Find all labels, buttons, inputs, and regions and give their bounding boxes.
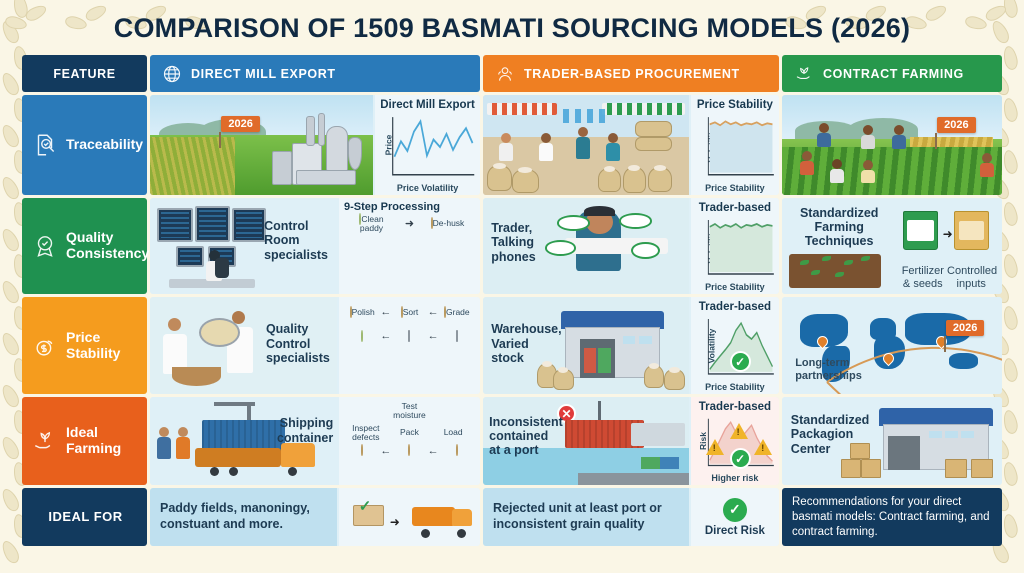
header-tbp-label: TRADER-BASED PROCUREMENT [524, 67, 740, 81]
fertilizer-bag-icon [903, 211, 938, 249]
quality-badge-icon [32, 233, 58, 259]
chart-trader-based-r2: Trader-based Volatility Price Stability [691, 198, 779, 294]
flow-step: Load [432, 428, 475, 437]
caption: Inconsistent contained at a port [489, 415, 559, 458]
wheat-grain-icon [1002, 253, 1020, 279]
scene-packaging-center: Standardized Packagion Center [782, 397, 1002, 485]
cell-footer-cf: Recommendations for your direct basmati … [782, 488, 1002, 546]
row-label-text: Ideal Farming [66, 425, 139, 456]
table-row: Quality Consistency Control Room special… [22, 198, 1002, 294]
flow-step [344, 446, 380, 455]
comparison-table: FEATURE DIRECT MILL EXPORT TRADER-BASED … [22, 55, 1002, 551]
table-row: Price Stability Quality Control speciali… [22, 297, 1002, 394]
caption: Long-term partnerships [795, 357, 865, 382]
arrow-icon: ← [428, 330, 439, 342]
wheat-grain-icon [1002, 201, 1020, 227]
footer-tbp-text: Rejected unit at least port or inconsist… [493, 501, 679, 532]
scene-world-map: 2026 Long-term partnerships [782, 297, 1002, 394]
wheat-grain-icon [0, 122, 22, 149]
row-label-text: Traceability [66, 137, 143, 153]
check-icon: ✓ [359, 497, 372, 515]
flow-step: Test moisture [388, 402, 431, 420]
header-dme-label: DIRECT MILL EXPORT [191, 67, 336, 81]
wheat-grain-icon [0, 70, 22, 97]
chart-plot [707, 115, 775, 179]
arrow-icon: ➜ [390, 515, 400, 529]
header-direct-mill-export[interactable]: DIRECT MILL EXPORT [150, 55, 480, 92]
row-label-text: Price Stability [66, 330, 139, 361]
scene-control-room: Control Room specialists [150, 198, 337, 294]
scene-village-market [483, 95, 689, 195]
warning-triangle-icon [706, 439, 724, 455]
year-flag-2026: 2026 [221, 116, 259, 132]
header-cf-label: CONTRACT FARMING [823, 67, 964, 81]
chart-xlabel: Price Stability [691, 382, 779, 392]
cell-ideal-tbp: Inconsistent contained at a port ✕ Trade… [483, 397, 779, 485]
caption: Shipping container [266, 416, 333, 445]
year-flag-2026: 2026 [946, 320, 984, 336]
row-label-ideal-farming: Ideal Farming [22, 397, 147, 485]
row-label-ideal-for: IDEAL FOR [22, 488, 147, 546]
row-label-traceability: Traceability [22, 95, 147, 195]
wheat-grain-icon [1002, 513, 1020, 539]
cell-price-dme: Quality Control specialists Polish ← Sor… [150, 297, 480, 394]
flow-9-step-processing: 9-Step Processing Clean paddy ➜ De-husk [339, 198, 480, 294]
chart-title: Trader-based [691, 401, 779, 413]
cell-price-tbp: Warehouse, Varied stock [483, 297, 779, 394]
chart-plot [391, 115, 476, 179]
row-label-text: Quality Consistency [66, 230, 149, 261]
hand-sprout-icon [32, 428, 58, 454]
wheat-grain-icon [0, 486, 22, 513]
cell-quality-cf: Standardized Farming Techniques ➜ Fertil… [782, 198, 1002, 294]
chart-trader-based-r3: Trader-based Volatility ✓ Price Stabilit… [691, 297, 779, 394]
wheat-grain-icon [1002, 45, 1020, 71]
arrow-icon: ← [428, 306, 439, 318]
caption: Quality Control specialists [266, 322, 333, 365]
wheat-grain-icon [0, 278, 22, 305]
label-controlled-inputs: Controlled inputs [947, 265, 995, 290]
wheat-grain-icon [0, 226, 22, 253]
chart-direct-mill-export: Direct Mill Export Price Price Volatilit… [375, 95, 480, 195]
wheat-grain-icon [1002, 409, 1020, 435]
check-badge-icon: ✓ [730, 351, 751, 372]
table-footer-row: IDEAL FOR Paddy fields, manoningy, const… [22, 488, 1002, 546]
table-header-row: FEATURE DIRECT MILL EXPORT TRADER-BASED … [22, 55, 1002, 92]
warning-triangle-icon [730, 423, 748, 439]
flow-step: Polish [344, 308, 380, 317]
flow-step: De-husk [426, 219, 469, 228]
scene-paddy-field-and-mill: 2026 [150, 95, 373, 195]
flow-step [391, 446, 427, 455]
cell-traceability-tbp: Price Stability Volatility Price Stabili… [483, 95, 779, 195]
flow-title: 9-Step Processing [344, 201, 475, 213]
scene-warehouse: Warehouse, Varied stock [483, 297, 689, 394]
cell-footer-dme: Paddy fields, manoningy, constuant and m… [150, 488, 480, 546]
wheat-grain-icon [0, 330, 22, 357]
caption: Standardized Farming Techniques [791, 206, 888, 249]
caption: Warehouse, Varied stock [491, 322, 557, 365]
flow-steps-final: Test moisture Inspect defects Pack Load … [339, 397, 480, 485]
warning-triangle-icon [754, 439, 772, 455]
caption: Standardized Packagion Center [791, 413, 870, 456]
chart-price-stability-tbp-r1: Price Stability Volatility Price Stabili… [691, 95, 779, 195]
footer-cf-text: Recommendations for your direct basmati … [792, 495, 992, 540]
wheat-grain-icon [0, 174, 22, 201]
trader-person-icon [495, 64, 515, 84]
wheat-grain-icon [1002, 149, 1020, 175]
cell-price-cf: 2026 Long-term partnerships [782, 297, 1002, 394]
chart-title: Trader-based [691, 301, 779, 313]
table-row: Traceability 2026 [22, 95, 1002, 195]
scene-lab-technicians: Quality Control specialists [150, 297, 337, 394]
header-trader-based-procurement[interactable]: TRADER-BASED PROCUREMENT [483, 55, 779, 92]
flow-step: Pack [388, 428, 431, 437]
flow-step: Clean paddy [350, 215, 393, 233]
caption: Control Room specialists [264, 219, 331, 262]
cell-ideal-cf: Standardized Packagion Center [782, 397, 1002, 485]
arrow-icon: ← [428, 445, 439, 457]
wheat-grain-icon [0, 434, 22, 461]
cell-quality-dme: Control Room specialists 9-Step Processi… [150, 198, 480, 294]
footer-dme-text: Paddy fields, manoningy, constuant and m… [160, 501, 327, 532]
scene-trader-on-phone: Trader, Talking phones [483, 198, 689, 294]
flow-step [344, 332, 380, 341]
header-feature: FEATURE [22, 55, 147, 92]
controlled-inputs-bag-icon [954, 211, 989, 249]
chart-plot [707, 218, 775, 278]
row-label-price-stability: Price Stability [22, 297, 147, 394]
arrow-icon: ← [380, 330, 391, 342]
row-label-quality-consistency: Quality Consistency [22, 198, 147, 294]
chart-xlabel: Higher risk [691, 473, 779, 483]
arrow-icon: ← [380, 445, 391, 457]
scene-container-truck: Shipping container [150, 397, 337, 485]
chart-title: Trader-based [691, 202, 779, 214]
scene-farmers-in-fields: 2026 [782, 95, 1002, 195]
flow-step: Inspect defects [344, 424, 387, 442]
direct-risk-check-icon: ✓ [723, 498, 747, 522]
flow-steps-continued: Polish ← Sort ← Grade ← ← [339, 297, 480, 394]
wheat-grain-icon [1002, 97, 1020, 123]
wheat-grain-icon [1002, 305, 1020, 331]
flow-step: Sort [391, 308, 427, 317]
header-contract-farming[interactable]: CONTRACT FARMING [782, 55, 1002, 92]
chart-xlabel: Price Stability [691, 183, 779, 193]
arrow-icon: ➜ [405, 217, 414, 230]
chart-xlabel: Price Stability [691, 282, 779, 292]
caption: Trader, Talking phones [491, 221, 561, 264]
arrow-icon: ← [380, 306, 391, 318]
table-row: Ideal Farming Shipping container [22, 397, 1002, 485]
flow-step [439, 446, 475, 455]
document-magnifier-icon [32, 132, 58, 158]
arrow-icon: ➜ [943, 227, 953, 241]
wheat-grain-icon [0, 382, 22, 409]
chart-title: Price Stability [691, 99, 779, 111]
row-label-text: IDEAL FOR [48, 510, 122, 525]
hand-plant-icon [794, 64, 814, 84]
cell-traceability-dme: 2026 Direct Mill Export Price [150, 95, 480, 195]
wheat-grain-icon [0, 538, 22, 565]
flow-step [439, 332, 475, 341]
wheat-grain-icon [1002, 357, 1020, 383]
globe-icon [162, 64, 182, 84]
page-title: COMPARISON OF 1509 BASMATI SOURCING MODE… [0, 0, 1024, 44]
cell-footer-tbp: Rejected unit at least port or inconsist… [483, 488, 779, 546]
cell-traceability-cf: 2026 [782, 95, 1002, 195]
label-fertilizer-seeds: Fertilizer & seeds [901, 265, 945, 290]
wheat-grain-icon [1002, 461, 1020, 487]
chart-xlabel: Price Volatility [375, 183, 480, 193]
check-badge-icon: ✓ [730, 448, 751, 469]
scene-container-at-port: Inconsistent contained at a port ✕ [483, 397, 689, 485]
header-feature-label: FEATURE [53, 67, 115, 81]
money-bag-icon [32, 333, 58, 359]
year-flag-2026: 2026 [937, 117, 975, 133]
flow-step: Grade [439, 308, 475, 317]
chart-title: Direct Mill Export [375, 99, 480, 111]
cell-ideal-dme: Shipping container Test moisture Inspect… [150, 397, 480, 485]
direct-risk-label: Direct Risk [705, 525, 765, 537]
chart-risk-r4: Trader-based Risk ✓ Higher risk [691, 397, 779, 485]
scene-standardized-farming: Standardized Farming Techniques ➜ Fertil… [782, 198, 1002, 294]
cell-quality-tbp: Trader, Talking phones Trader-based Vola… [483, 198, 779, 294]
flow-step [391, 332, 427, 341]
